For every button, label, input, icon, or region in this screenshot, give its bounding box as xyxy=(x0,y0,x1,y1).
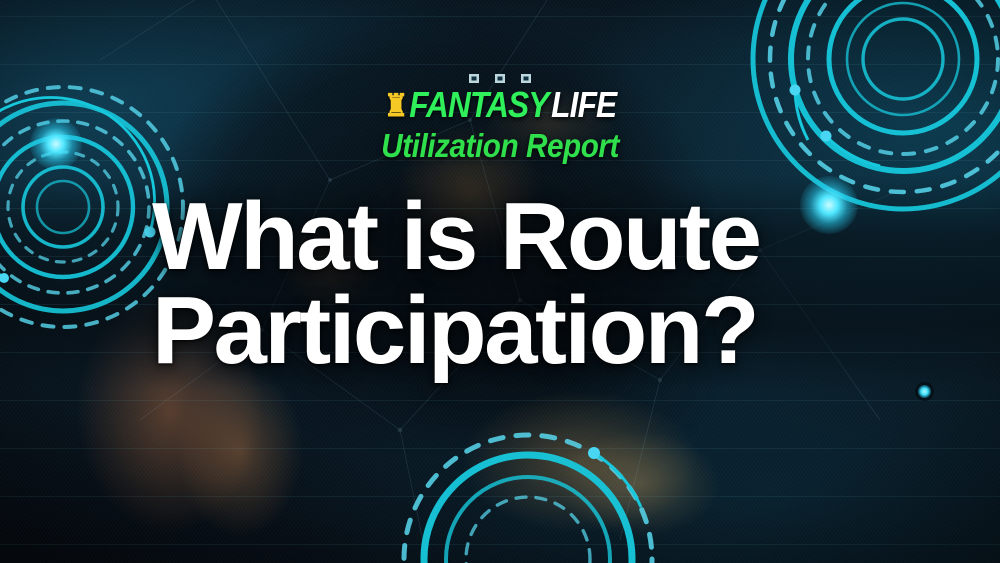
fantasy-life-wordmark: ♜ FANTASY LIFE xyxy=(384,87,616,123)
brand-lockup: ♜ FANTASY LIFE Utilization Report xyxy=(0,74,1000,162)
headline-line-1: What is Route xyxy=(152,190,759,284)
pip-2-icon xyxy=(495,74,505,83)
page-title: What is Route Participation? xyxy=(152,190,759,378)
pip-1-icon xyxy=(469,74,479,83)
logo-pips xyxy=(469,74,531,83)
promo-graphic-canvas: ♜ FANTASY LIFE Utilization Report What i… xyxy=(0,0,1000,563)
glow-node-top-right xyxy=(800,176,858,234)
wordmark-fantasy: FANTASY xyxy=(409,87,548,123)
accent-dot-right xyxy=(918,385,931,398)
pip-3-icon xyxy=(521,74,531,83)
hud-ring-bottom xyxy=(398,429,658,563)
wordmark-life: LIFE xyxy=(551,87,616,123)
headline-line-2: Participation? xyxy=(152,284,759,378)
report-subtitle: Utilization Report xyxy=(381,129,619,162)
trophy-icon: ♜ xyxy=(384,90,408,121)
